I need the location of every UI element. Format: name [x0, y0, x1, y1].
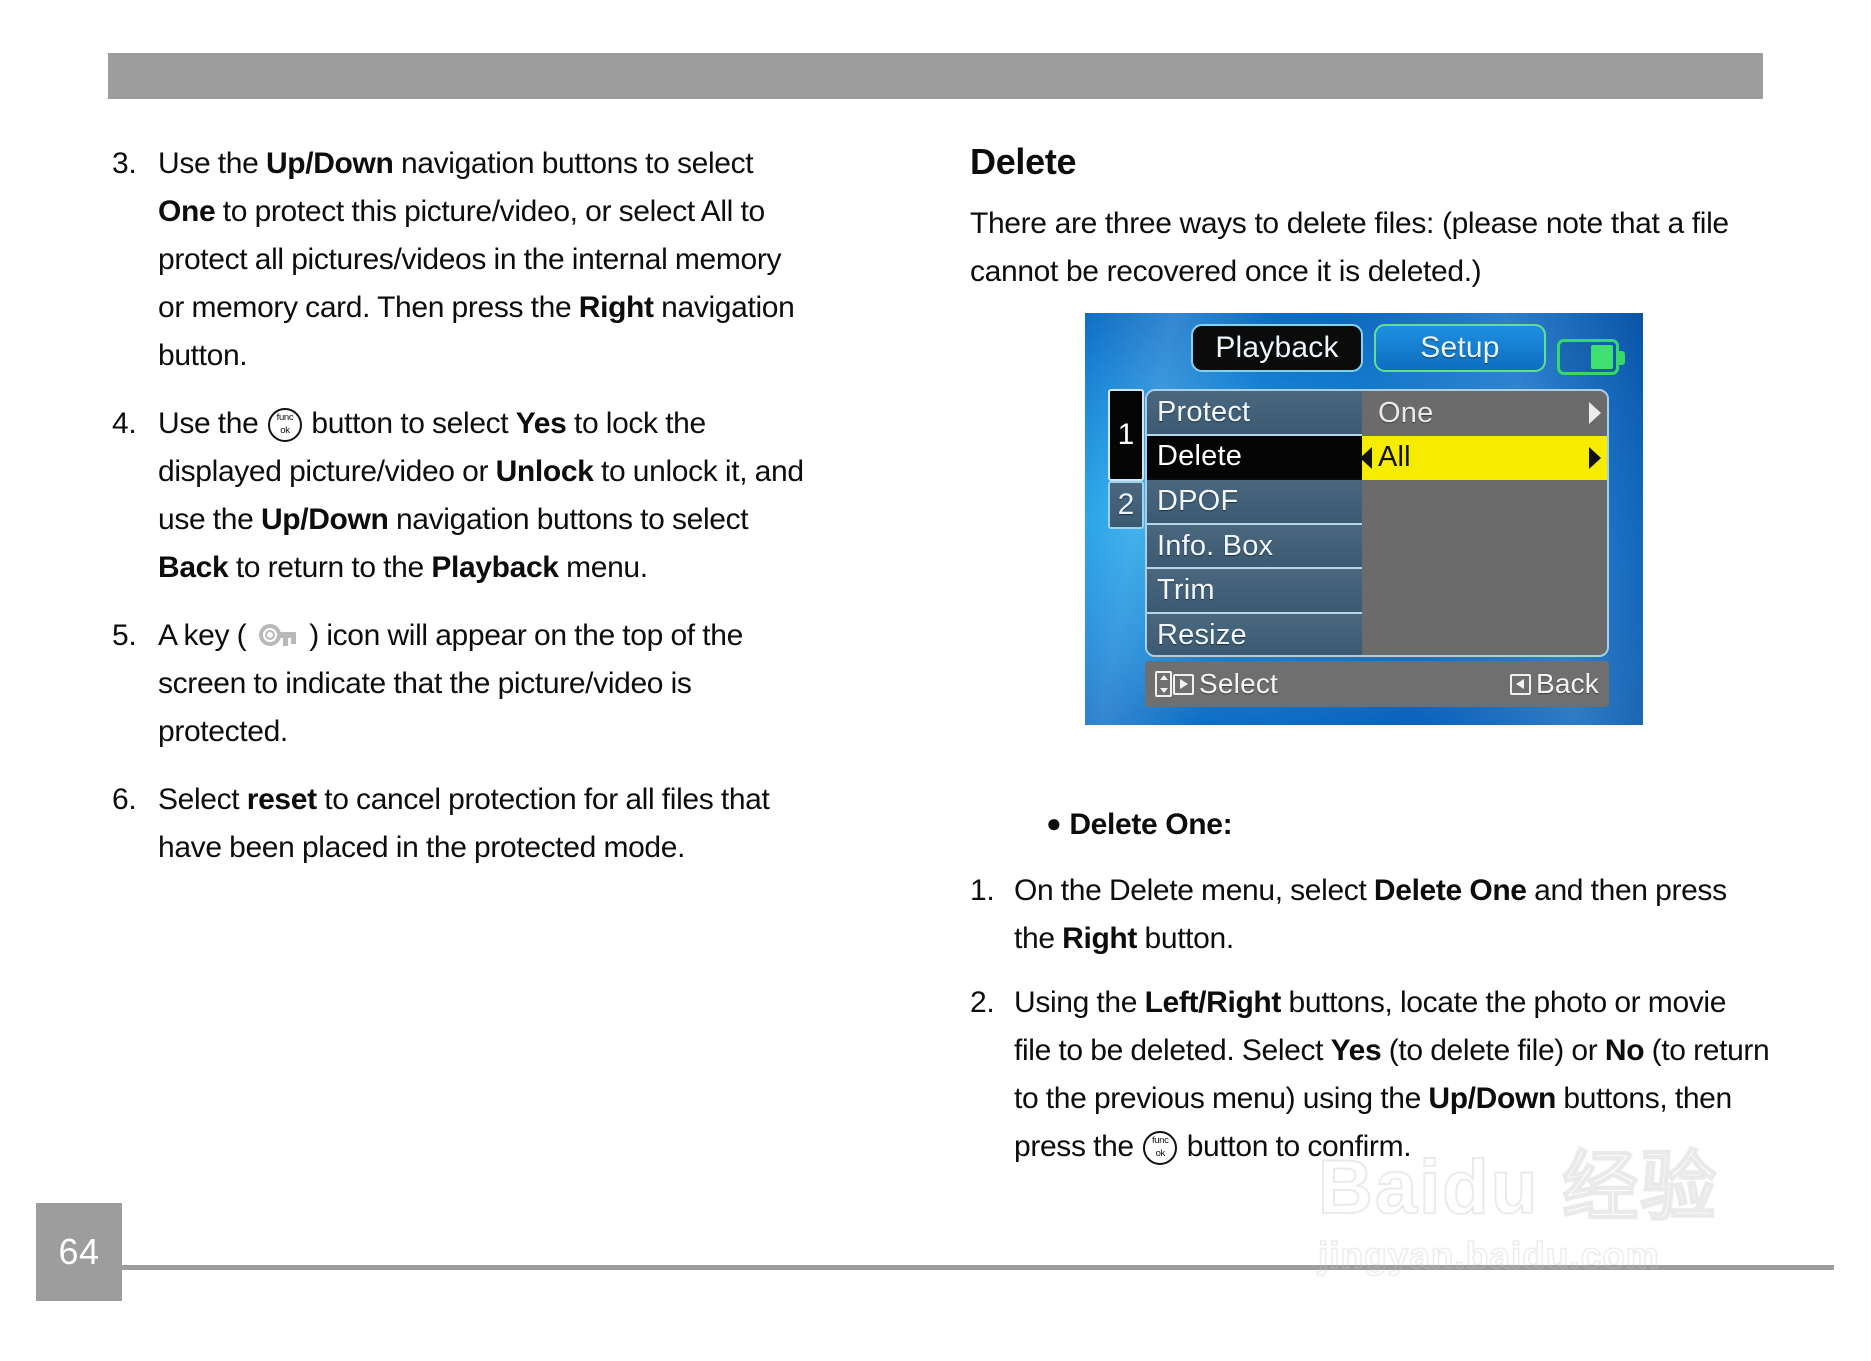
emphasis-text: Left/Right [1145, 986, 1281, 1019]
chevron-right-icon [1589, 402, 1601, 424]
menu-item-protect[interactable]: Protect [1147, 391, 1362, 436]
emphasis-text: Delete One [1374, 874, 1527, 907]
left-column: 3. Use the Up/Down navigation buttons to… [112, 140, 812, 892]
section-heading-delete: Delete [970, 140, 1770, 184]
menu-item-info-box[interactable]: Info. Box [1147, 525, 1362, 570]
camera-lcd-screenshot: Playback Setup 1 2 Protect Delete DPOF I… [1085, 313, 1643, 725]
header-bar [108, 53, 1763, 99]
emphasis-text: Up/Down [266, 147, 394, 180]
menu-item-resize[interactable]: Resize [1147, 614, 1362, 657]
page-number-box: 64 [36, 1203, 122, 1301]
lcd-footer-bar: Select Back [1145, 661, 1609, 707]
watermark-sub: jingyan.baidu.com [1318, 1235, 1788, 1277]
submenu-item-all-label: All [1378, 441, 1411, 474]
emphasis-text: Right [579, 291, 654, 324]
right-column: Delete There are three ways to delete fi… [970, 140, 1770, 296]
page-number: 64 [58, 1231, 99, 1273]
list-item: 4. Use the button to select Yes to lock … [112, 400, 812, 592]
emphasis-text: Playback [431, 551, 558, 584]
footer-rule [122, 1265, 1834, 1270]
list-item-number: 5. [112, 612, 158, 756]
tab-setup[interactable]: Setup [1374, 324, 1546, 372]
lcd-tab-bar: Playback Setup [1085, 324, 1643, 376]
func-ok-button-icon [1143, 1131, 1177, 1165]
lcd-menu-panel: Protect Delete DPOF Info. Box Trim Resiz… [1145, 389, 1609, 657]
tab-playback[interactable]: Playback [1191, 324, 1363, 372]
emphasis-text: Yes [516, 407, 567, 440]
list-item: 1. On the Delete menu, select Delete One… [970, 867, 1770, 963]
submenu-item-one[interactable]: One [1362, 391, 1607, 436]
list-item-text: Use the Up/Down navigation buttons to se… [158, 140, 812, 380]
lcd-select-hint: Select [1155, 668, 1278, 700]
list-item-number: 4. [112, 400, 158, 592]
emphasis-text: Up/Down [1428, 1082, 1556, 1115]
emphasis-text: Up/Down [261, 503, 389, 536]
lcd-back-hint: Back [1510, 668, 1599, 700]
lcd-menu-list: Protect Delete DPOF Info. Box Trim Resiz… [1147, 391, 1362, 655]
emphasis-text: One [158, 195, 215, 228]
list-item-text: On the Delete menu, select Delete One an… [1014, 867, 1770, 963]
lcd-select-label: Select [1199, 668, 1278, 700]
chevron-left-icon [1360, 447, 1372, 469]
left-button-icon [1510, 674, 1531, 695]
menu-item-trim[interactable]: Trim [1147, 569, 1362, 614]
page-badge-1: 1 [1108, 389, 1144, 481]
right-column-lower: ●Delete One: 1. On the Delete menu, sele… [970, 775, 1770, 1187]
battery-fill [1591, 345, 1613, 369]
emphasis-text: Unlock [496, 455, 594, 488]
func-ok-button-icon [268, 408, 302, 442]
menu-item-delete[interactable]: Delete [1147, 436, 1362, 481]
lcd-submenu-list: One All [1362, 391, 1607, 655]
list-item-text: A key ( ) icon will appear on the top of… [158, 612, 812, 756]
list-item: 3. Use the Up/Down navigation buttons to… [112, 140, 812, 380]
menu-item-dpof[interactable]: DPOF [1147, 480, 1362, 525]
bullet-dot-icon: ● [1046, 808, 1061, 838]
up-down-button-icon [1155, 671, 1172, 697]
bullet-delete-one: ●Delete One: [1046, 799, 1770, 849]
lcd-back-label: Back [1536, 668, 1599, 700]
bullet-delete-one-label: Delete One: [1069, 808, 1232, 841]
list-item-number: 6. [112, 776, 158, 872]
emphasis-text: Right [1062, 922, 1137, 955]
section-intro-paragraph: There are three ways to delete files: (p… [970, 200, 1770, 296]
manual-page: 3. Use the Up/Down navigation buttons to… [0, 0, 1871, 1361]
submenu-item-all[interactable]: All [1362, 436, 1607, 481]
page-badge-2: 2 [1108, 481, 1144, 529]
list-item-number: 2. [970, 979, 1014, 1171]
list-item: 6. Select reset to cancel protection for… [112, 776, 812, 872]
emphasis-text: Back [158, 551, 228, 584]
list-item-number: 3. [112, 140, 158, 380]
emphasis-text: No [1605, 1034, 1644, 1067]
list-item-number: 1. [970, 867, 1014, 963]
chevron-right-icon [1589, 447, 1601, 469]
list-item: 5. A key ( ) icon will appear on the top… [112, 612, 812, 756]
list-item-text: Using the Left/Right buttons, locate the… [1014, 979, 1770, 1171]
submenu-item-one-label: One [1378, 397, 1433, 430]
emphasis-text: Yes [1331, 1034, 1382, 1067]
lcd-background: Playback Setup 1 2 Protect Delete DPOF I… [1085, 313, 1643, 725]
emphasis-text: reset [247, 783, 317, 816]
list-item-text: Use the button to select Yes to lock the… [158, 400, 812, 592]
battery-icon [1557, 339, 1619, 375]
right-button-icon [1173, 674, 1194, 695]
key-protected-icon [258, 621, 298, 651]
list-item: 2. Using the Left/Right buttons, locate … [970, 979, 1770, 1171]
list-item-text: Select reset to cancel protection for al… [158, 776, 812, 872]
